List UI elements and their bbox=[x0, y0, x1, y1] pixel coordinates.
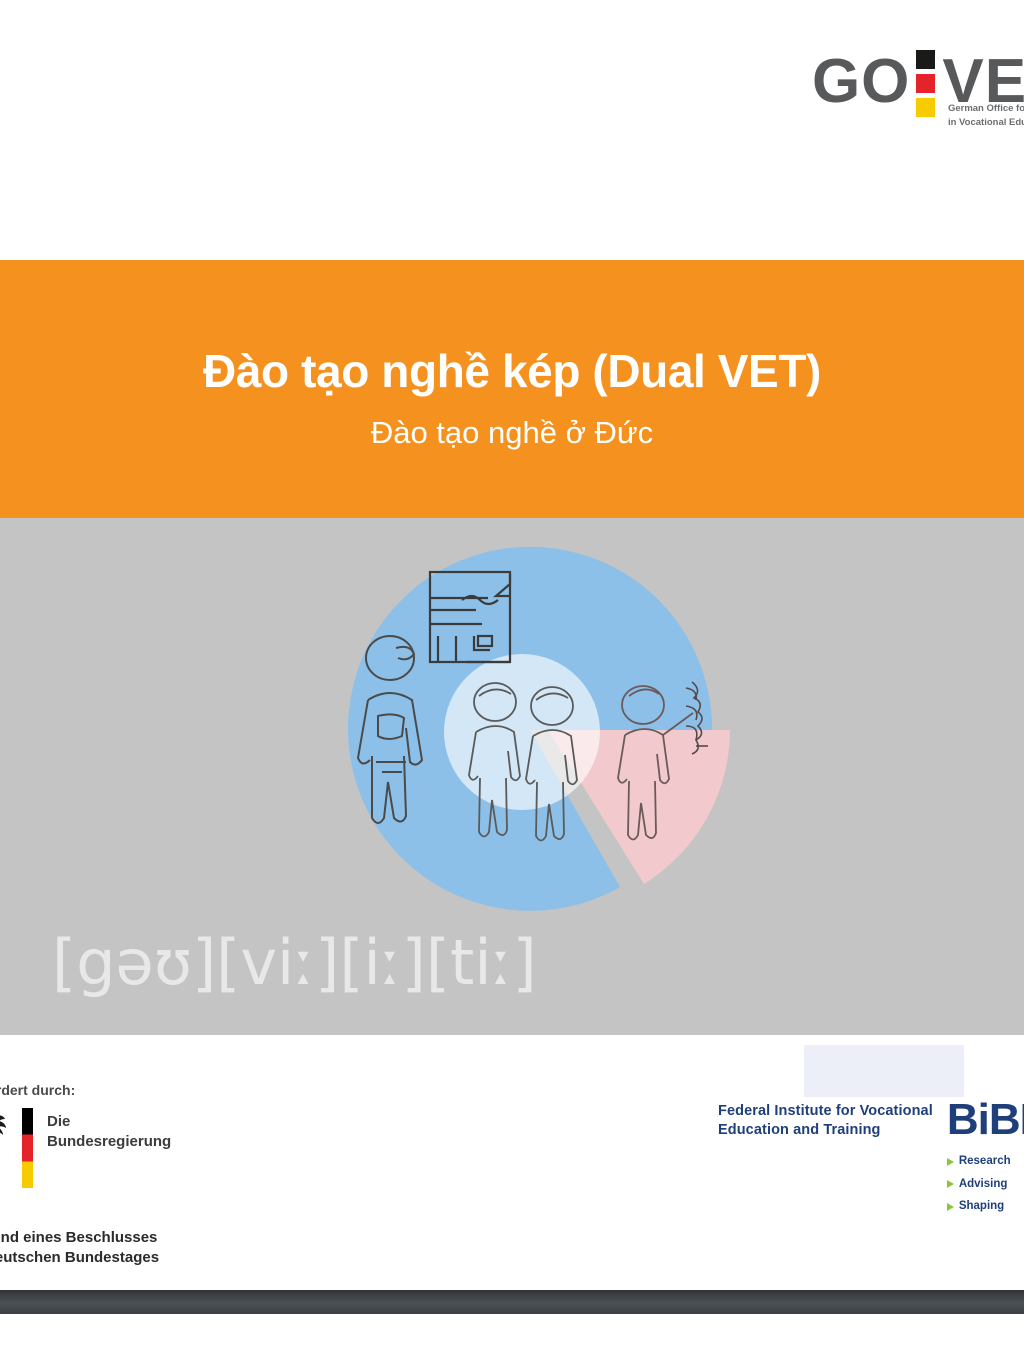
bibb-description: Federal Institute for Vocational Educati… bbox=[718, 1100, 933, 1140]
illustration-stage: [gəʊ][viː][iː][tiː] bbox=[0, 518, 1024, 1035]
govet-tagline-line2: in Vocational Education and Training bbox=[948, 116, 1024, 130]
green-arrow-icon bbox=[947, 1158, 954, 1166]
funded-by-label: Gefördert durch: bbox=[0, 1082, 75, 1098]
page-subtitle: Đào tạo nghề ở Đức bbox=[371, 414, 653, 451]
bibb-bullet-item: Shaping bbox=[947, 1195, 1024, 1217]
bottom-toolbar bbox=[0, 1290, 1024, 1314]
flag-stripe-black bbox=[916, 50, 935, 69]
bibb-logo-tint-block bbox=[804, 1045, 964, 1097]
federal-eagle-icon bbox=[0, 1108, 10, 1152]
bundesregierung-logo: Die Bundesregierung bbox=[0, 1108, 171, 1188]
govet-logo: GO VET German Office for International C… bbox=[812, 48, 1024, 115]
green-arrow-icon bbox=[947, 1180, 954, 1188]
pie-center-overlay bbox=[444, 654, 600, 810]
bibb-logo: Federal Institute for Vocational Educati… bbox=[718, 1100, 1024, 1218]
page-title: Đào tạo nghề kép (Dual VET) bbox=[203, 327, 821, 398]
german-flag-bar-icon bbox=[22, 1108, 33, 1188]
title-banner: Đào tạo nghề kép (Dual VET) Đào tạo nghề… bbox=[0, 260, 1024, 518]
bibb-bullet-label: Shaping bbox=[959, 1195, 1004, 1217]
flag-stripe-red bbox=[916, 74, 935, 93]
govet-tagline: German Office for International Cooperat… bbox=[948, 102, 1024, 130]
bibb-bullet-list: Research Advising Shaping bbox=[947, 1150, 1024, 1217]
bundesregierung-line1: Die bbox=[47, 1112, 171, 1132]
flag-stripe-gold bbox=[916, 98, 935, 117]
bibb-description-line2: Education and Training bbox=[718, 1121, 933, 1140]
bibb-wordmark: BiBB bbox=[947, 1100, 1024, 1140]
bundestag-note-line1: aufgrund eines Beschlusses bbox=[0, 1228, 159, 1248]
bibb-wordmark-block: BiBB Research Advising Shaping bbox=[947, 1100, 1024, 1218]
pie-chart-svg bbox=[330, 540, 730, 920]
dual-vet-pie-chart bbox=[330, 540, 730, 920]
bibb-bullet-item: Research bbox=[947, 1150, 1024, 1172]
bundesregierung-line2: Bundesregierung bbox=[47, 1132, 171, 1152]
phonetic-transcription: [gəʊ][viː][iː][tiː] bbox=[52, 932, 537, 994]
green-arrow-icon bbox=[947, 1203, 954, 1211]
govet-word-left: GO bbox=[812, 51, 910, 113]
bibb-description-line1: Federal Institute for Vocational bbox=[718, 1102, 933, 1121]
bundesregierung-text: Die Bundesregierung bbox=[47, 1108, 171, 1152]
slide-header: GO VET German Office for International C… bbox=[0, 0, 1024, 260]
bundestag-decision-note: aufgrund eines Beschlusses des Deutschen… bbox=[0, 1228, 159, 1269]
bundestag-note-line2: des Deutschen Bundestages bbox=[0, 1248, 159, 1268]
slide-root: GO VET German Office for International C… bbox=[0, 0, 1024, 1366]
german-flag-colon-icon bbox=[916, 50, 935, 117]
govet-tagline-line1: German Office for International Cooperat… bbox=[948, 102, 1024, 116]
bibb-bullet-label: Research bbox=[959, 1150, 1011, 1172]
bibb-bullet-item: Advising bbox=[947, 1173, 1024, 1195]
bibb-bullet-label: Advising bbox=[959, 1173, 1008, 1195]
below-toolbar-area bbox=[0, 1314, 1024, 1366]
